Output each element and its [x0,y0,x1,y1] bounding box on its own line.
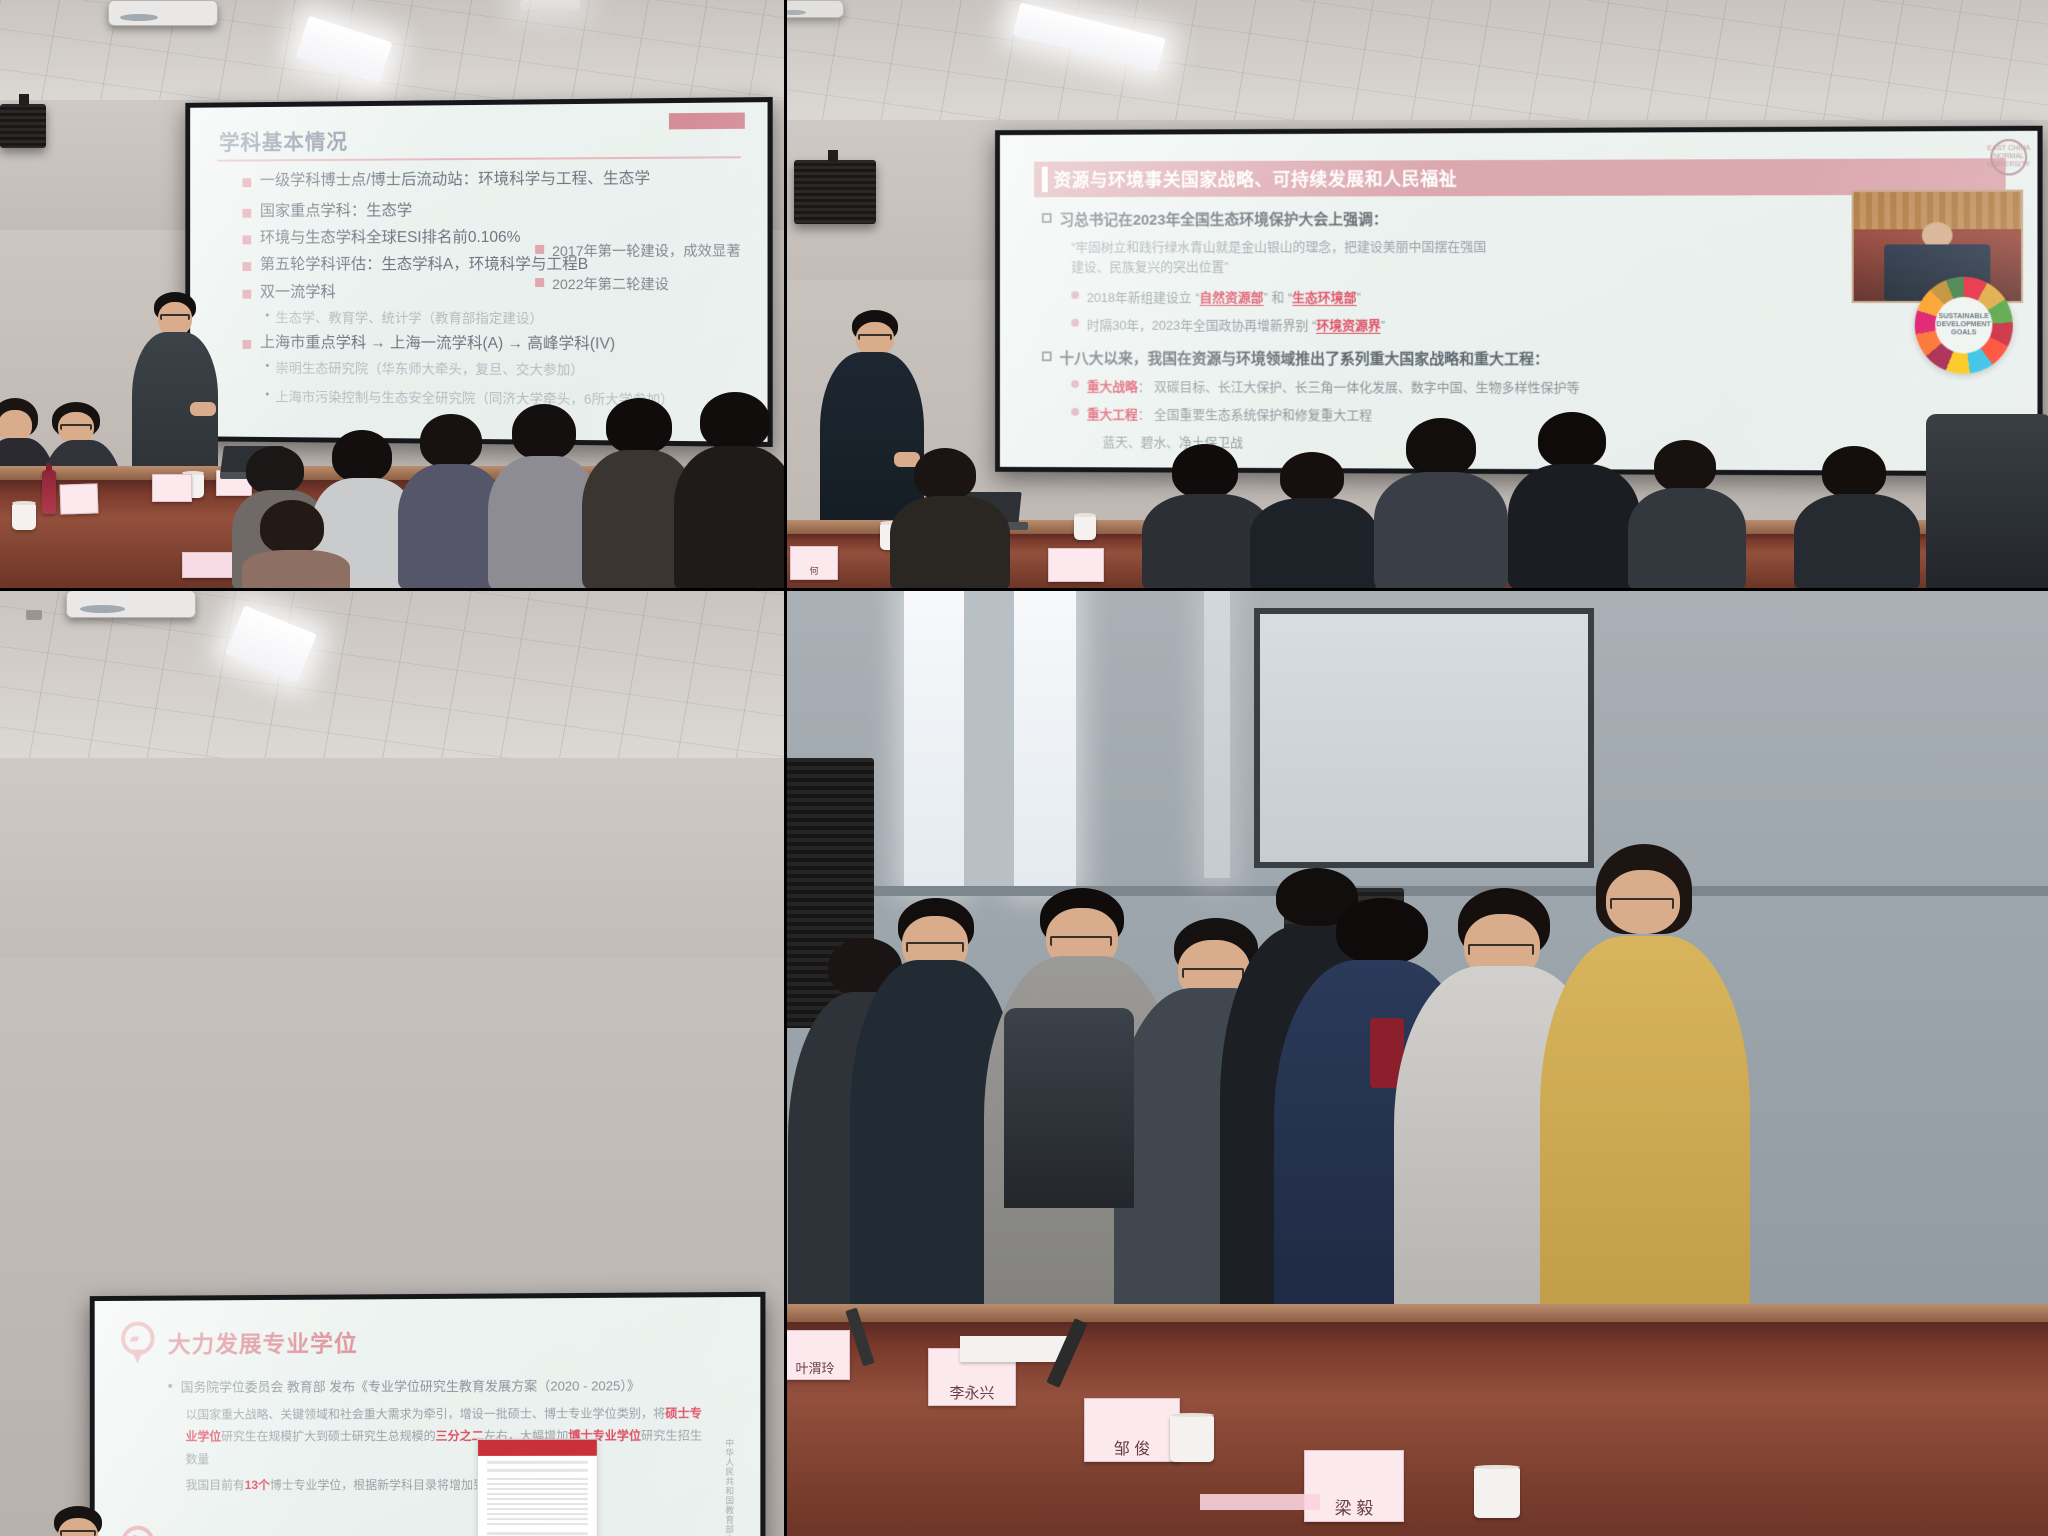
panel-divider-vertical [784,0,787,1536]
photo-panel-top-right: 资源与环境事关国家战略、可持续发展和人民福祉 EAST CHINA NORMAL… [784,0,2048,588]
photo-panel-bottom-left: ▰ 大力发展专业学位 国务院学位委员会 教育部 发布《专业学位研究生教育发展方案… [0,588,784,1536]
circle-bullet-icon [1071,291,1079,299]
highlight-term: 环境资源界 [1316,318,1380,334]
seg: 生在规模扩大到硕士研究生总规模的 [245,1429,436,1443]
slide1-bullet-shanghai: 上海市重点学科 → 上海一流学科(A) → 高峰学科(IV) [242,335,753,353]
square-bullet-icon [242,262,251,271]
ceiling-sensor [26,610,42,620]
nameplate: 邹 俊 [1084,1398,1180,1462]
square-bullet-icon [242,178,251,187]
hair [1538,412,1606,468]
notebook [960,1336,1070,1362]
nameplate: 叶渭玲 [784,1330,850,1380]
dot-bullet-icon [266,393,269,396]
slide2-quote: “牢固树立和践行绿水青山就是金山银山的理念，把建设美丽中国摆在强国建设、民族复兴… [1071,237,1496,278]
audience-person [1630,440,1740,588]
slide2-strategy-row: 重大战略： 双碳目标、长江大保护、长三角一体化发展、数字中国、生物多样性保护等 [1071,376,1586,396]
panel-divider-horizontal [0,588,2048,591]
slide2-point-0-text: 2018年新组建设立 “自然资源部” 和 “生态环境部” [1087,287,1361,306]
hair [420,414,482,468]
ceiling [784,0,2048,130]
glasses-icon [1468,944,1534,955]
circle-bullet-icon [1071,408,1079,416]
seg: 时隔30年，2023年全国政协再增新界别 [1087,318,1309,333]
ceiling-tile-lines [784,0,2048,130]
slide1-bullet-1: 国家重点学科：生态学 [242,202,753,220]
slide2-heading-2-text: 十八大以来，我国在资源与环境领域推出了系列重大国家战略和重大工程： [1059,348,1549,370]
vertical-document-text: 中华人民共和国教育部文件 [612,1438,738,1536]
slide3-section-1-bullet: 国务院学位委员会 教育部 发布《专业学位研究生教育发展方案（2020 - 202… [168,1375,733,1396]
speaker-mount [828,150,838,162]
strategy-body: 双碳目标、长江大保护、长三角一体化发展、数字中国、生物多样性保护等 [1154,379,1580,395]
hair [246,446,304,494]
slide1-bullet-1-text: 国家重点学科：生态学 [260,203,412,220]
slide1-bullet-4-text: 双一流学科 [260,284,336,300]
hair [512,404,576,460]
sdg-label: SUSTAINABLE DEVELOPMENT GOALS [1935,297,1992,354]
audience-person [1374,418,1502,588]
slide2-point-1: 时隔30年，2023年全国政协再增新界别 “环境资源界” [1071,315,2000,335]
slide1-title-rule [217,156,741,161]
highlight-term: 自然资源部 [1199,290,1263,306]
torso [890,496,1010,588]
square-bullet-icon [535,278,544,287]
hair [1280,452,1344,502]
nameplate: 何 [790,546,838,580]
slide1-sub-double-first-class-text: 生态学、教育学、统计学（教育部指定建设） [275,306,543,327]
paper-cup [12,504,36,530]
paper-cup [1170,1416,1214,1462]
slide3-section-1-title: 大力发展专业学位 [168,1325,358,1360]
slide1-bullet-2-text: 环境与生态学科全球ESI排名前0.106% [260,230,521,247]
projection-screen-slide3: ▰ 大力发展专业学位 国务院学位委员会 教育部 发布《专业学位研究生教育发展方案… [90,1292,766,1536]
nameplate [1048,548,1104,582]
audience-person [894,448,1004,588]
window-mullion [964,588,1014,888]
glasses-icon [1610,898,1674,909]
hair [260,500,324,554]
highlight-term: 13个 [245,1478,270,1492]
whiteboard [1254,608,1594,868]
nameplate [152,474,192,502]
presenter-person [24,1506,136,1536]
seg: 我国目前有 [186,1478,245,1492]
project-body: 全国重要生态系统保护和修复重大工程 [1154,407,1372,423]
hair [914,448,976,500]
window-pane [904,588,964,888]
dot-bullet-icon [266,364,269,367]
document-red-header [478,1440,597,1456]
policy-document-thumbnail [477,1439,598,1536]
hair [606,398,672,454]
slide2-title: 资源与环境事关国家战略、可持续发展和人民福祉 [1053,163,1995,192]
square-bullet-icon [535,245,544,254]
highlight-term: 生态环境部 [1292,290,1356,306]
ceiling-projector [108,0,218,26]
table-top-edge [784,1304,2048,1322]
hollow-square-bullet-icon [1042,213,1052,223]
dot-bullet-icon [168,1384,172,1388]
slide2-strategy-text: 重大战略： 双碳目标、长江大保护、长三角一体化发展、数字中国、生物多样性保护等 [1087,376,1580,396]
water-bottle [42,470,56,514]
paper-cup [1074,516,1096,540]
presenter-person [118,292,218,492]
pin-tail [132,1350,144,1364]
window-pane [1014,588,1076,888]
slide3-section-2-title: 深入推进产教融合 [168,1530,358,1536]
torso [242,550,350,588]
slide1-right-item-1: 2022年第二轮建设 [535,274,741,294]
ceiling-projector [784,0,844,18]
slide1-sub-shanghai-0: 崇明生态研究院（华东师大牵头，复旦、交大参加） [266,357,754,380]
photo-panel-bottom-right: 叶渭玲 李永兴 邹 俊 梁 毅 [784,588,2048,1536]
slide1-bullet-0-text: 一级学科博士点/博士后流动站：环境科学与工程、生态学 [260,171,650,189]
document-sheet [1200,1494,1320,1510]
office-chair [1926,414,2048,588]
nameplate [59,483,98,514]
slide1-sub-shanghai-0-text: 崇明生态研究院（华东师大牵头，复旦、交大参加） [275,357,583,379]
glasses-icon [1050,936,1112,946]
torso [1250,498,1378,588]
slide3-section-1-bullet-text: 国务院学位委员会 教育部 发布《专业学位研究生教育发展方案（2020 - 202… [181,1375,640,1396]
glasses-icon [60,424,92,430]
document-line [487,1461,588,1464]
glasses-icon [160,314,190,320]
circle-bullet-icon [1071,319,1079,327]
slide1-right-item-0: 2017年第一轮建设，成效显著 [535,241,741,261]
glasses-icon [906,942,964,952]
circle-bullet-icon [1071,380,1079,388]
pin-glyph: ▰ [130,1332,146,1344]
seg: 和 [1271,290,1284,305]
hair [1406,418,1476,476]
slide1-bullet-shanghai-text: 上海市重点学科 → 上海一流学科(A) → 高峰学科(IV) [260,335,615,353]
ceiling-strip-light-far [520,0,580,10]
torso [1540,936,1750,1366]
panelist-person [1544,844,1744,1364]
torso [1508,464,1640,588]
ceiling-projector [66,590,196,618]
audience-person [1146,444,1266,588]
seg: 以国家重大战略、关键领域和社会重大需求为牵引，增设一批硕士、博士专业学位类别，将 [186,1407,666,1422]
wall-speaker [0,104,46,148]
paper-cup [1474,1468,1520,1518]
window-pane [1204,588,1230,878]
slide1-right-item-0-text: 2017年第一轮建设，成效显著 [552,241,741,261]
photo-collage: 学科基本情况 一级学科博士点/博士后流动站：环境科学与工程、生态学 国家重点学科… [0,0,2048,1536]
seg: 2018年新组建设立 [1087,290,1192,305]
nameplate: 梁 毅 [1304,1450,1404,1522]
audience-person [1252,452,1372,588]
square-bullet-icon [242,289,251,298]
torso [1374,472,1508,588]
hollow-square-bullet-icon [1042,351,1052,361]
audience-person [1508,412,1634,588]
slide1-sub-double-first-class: 生态学、教育学、统计学（教育部指定建设） [266,306,754,327]
square-bullet-icon [242,236,251,245]
hair [1172,444,1238,498]
slide2-heading-2: 十八大以来，我国在资源与环境领域推出了系列重大国家战略和重大工程： [1042,347,2000,369]
torso [1628,488,1746,588]
square-bullet-icon [242,209,251,218]
slide1-right-item-1-text: 2022年第二轮建设 [552,274,669,294]
slide1-bullet-0: 一级学科博士点/博士后流动站：环境科学与工程、生态学 [242,170,753,189]
glasses-icon [858,334,892,340]
square-bullet-icon [242,340,251,349]
sdg-wheel-icon: SUSTAINABLE DEVELOPMENT GOALS [1915,277,2013,374]
slide1-canvas: 学科基本情况 一级学科博士点/博士后流动站：环境科学与工程、生态学 国家重点学科… [190,102,767,442]
slide2-heading-1-text: 习总书记在2023年全国生态环境保护大会上强调： [1059,208,1387,230]
graduation-cap-pin-icon: ▰ [121,1322,154,1364]
audience-person [678,392,784,588]
hair [700,392,770,450]
seg: 研究 [221,1430,245,1444]
audience-person [586,398,688,588]
torso [1794,494,1920,588]
hair [1654,440,1716,492]
university-logo: EAST CHINA NORMAL UNIVERSITY [1990,139,2027,176]
audience-person [246,500,342,588]
document-text-block [487,1478,588,1526]
hand [190,402,216,416]
speaker-mount [19,94,29,106]
photo-panel-top-left: 学科基本情况 一级学科博士点/博士后流动站：环境科学与工程、生态学 国家重点学科… [0,0,784,588]
slide3-canvas: ▰ 大力发展专业学位 国务院学位委员会 教育部 发布《专业学位研究生教育发展方案… [95,1297,761,1536]
slide1-corner-tag [669,113,745,130]
slide3-section-1-header: ▰ 大力发展专业学位 [121,1319,733,1364]
document-line [487,1469,588,1472]
wall-speaker [794,160,876,224]
audience-person [1794,446,1914,588]
project-label: 重大工程 [1087,407,1138,422]
glasses-icon [60,1530,96,1536]
hair [332,430,392,482]
audience-person [404,414,500,588]
torso [674,446,784,588]
slide1-right-column: 2017年第一轮建设，成效显著 2022年第二轮建设 [535,241,741,308]
seg: 博士专业学位，根据新学科目录将增加到 [270,1478,485,1492]
hair [1822,446,1886,498]
slide2-project-text: 重大工程： 全国重要生态系统保护和修复重大工程 [1087,404,1372,424]
strategy-label: 重大战略 [1087,379,1138,394]
dot-bullet-icon [266,313,269,316]
wall [0,758,784,958]
office-chair [1004,1008,1134,1208]
audience-person [494,404,594,588]
document-line [487,1532,588,1535]
slide2-point-1-text: 时隔30年，2023年全国政协再增新界别 “环境资源界” [1087,315,1385,334]
